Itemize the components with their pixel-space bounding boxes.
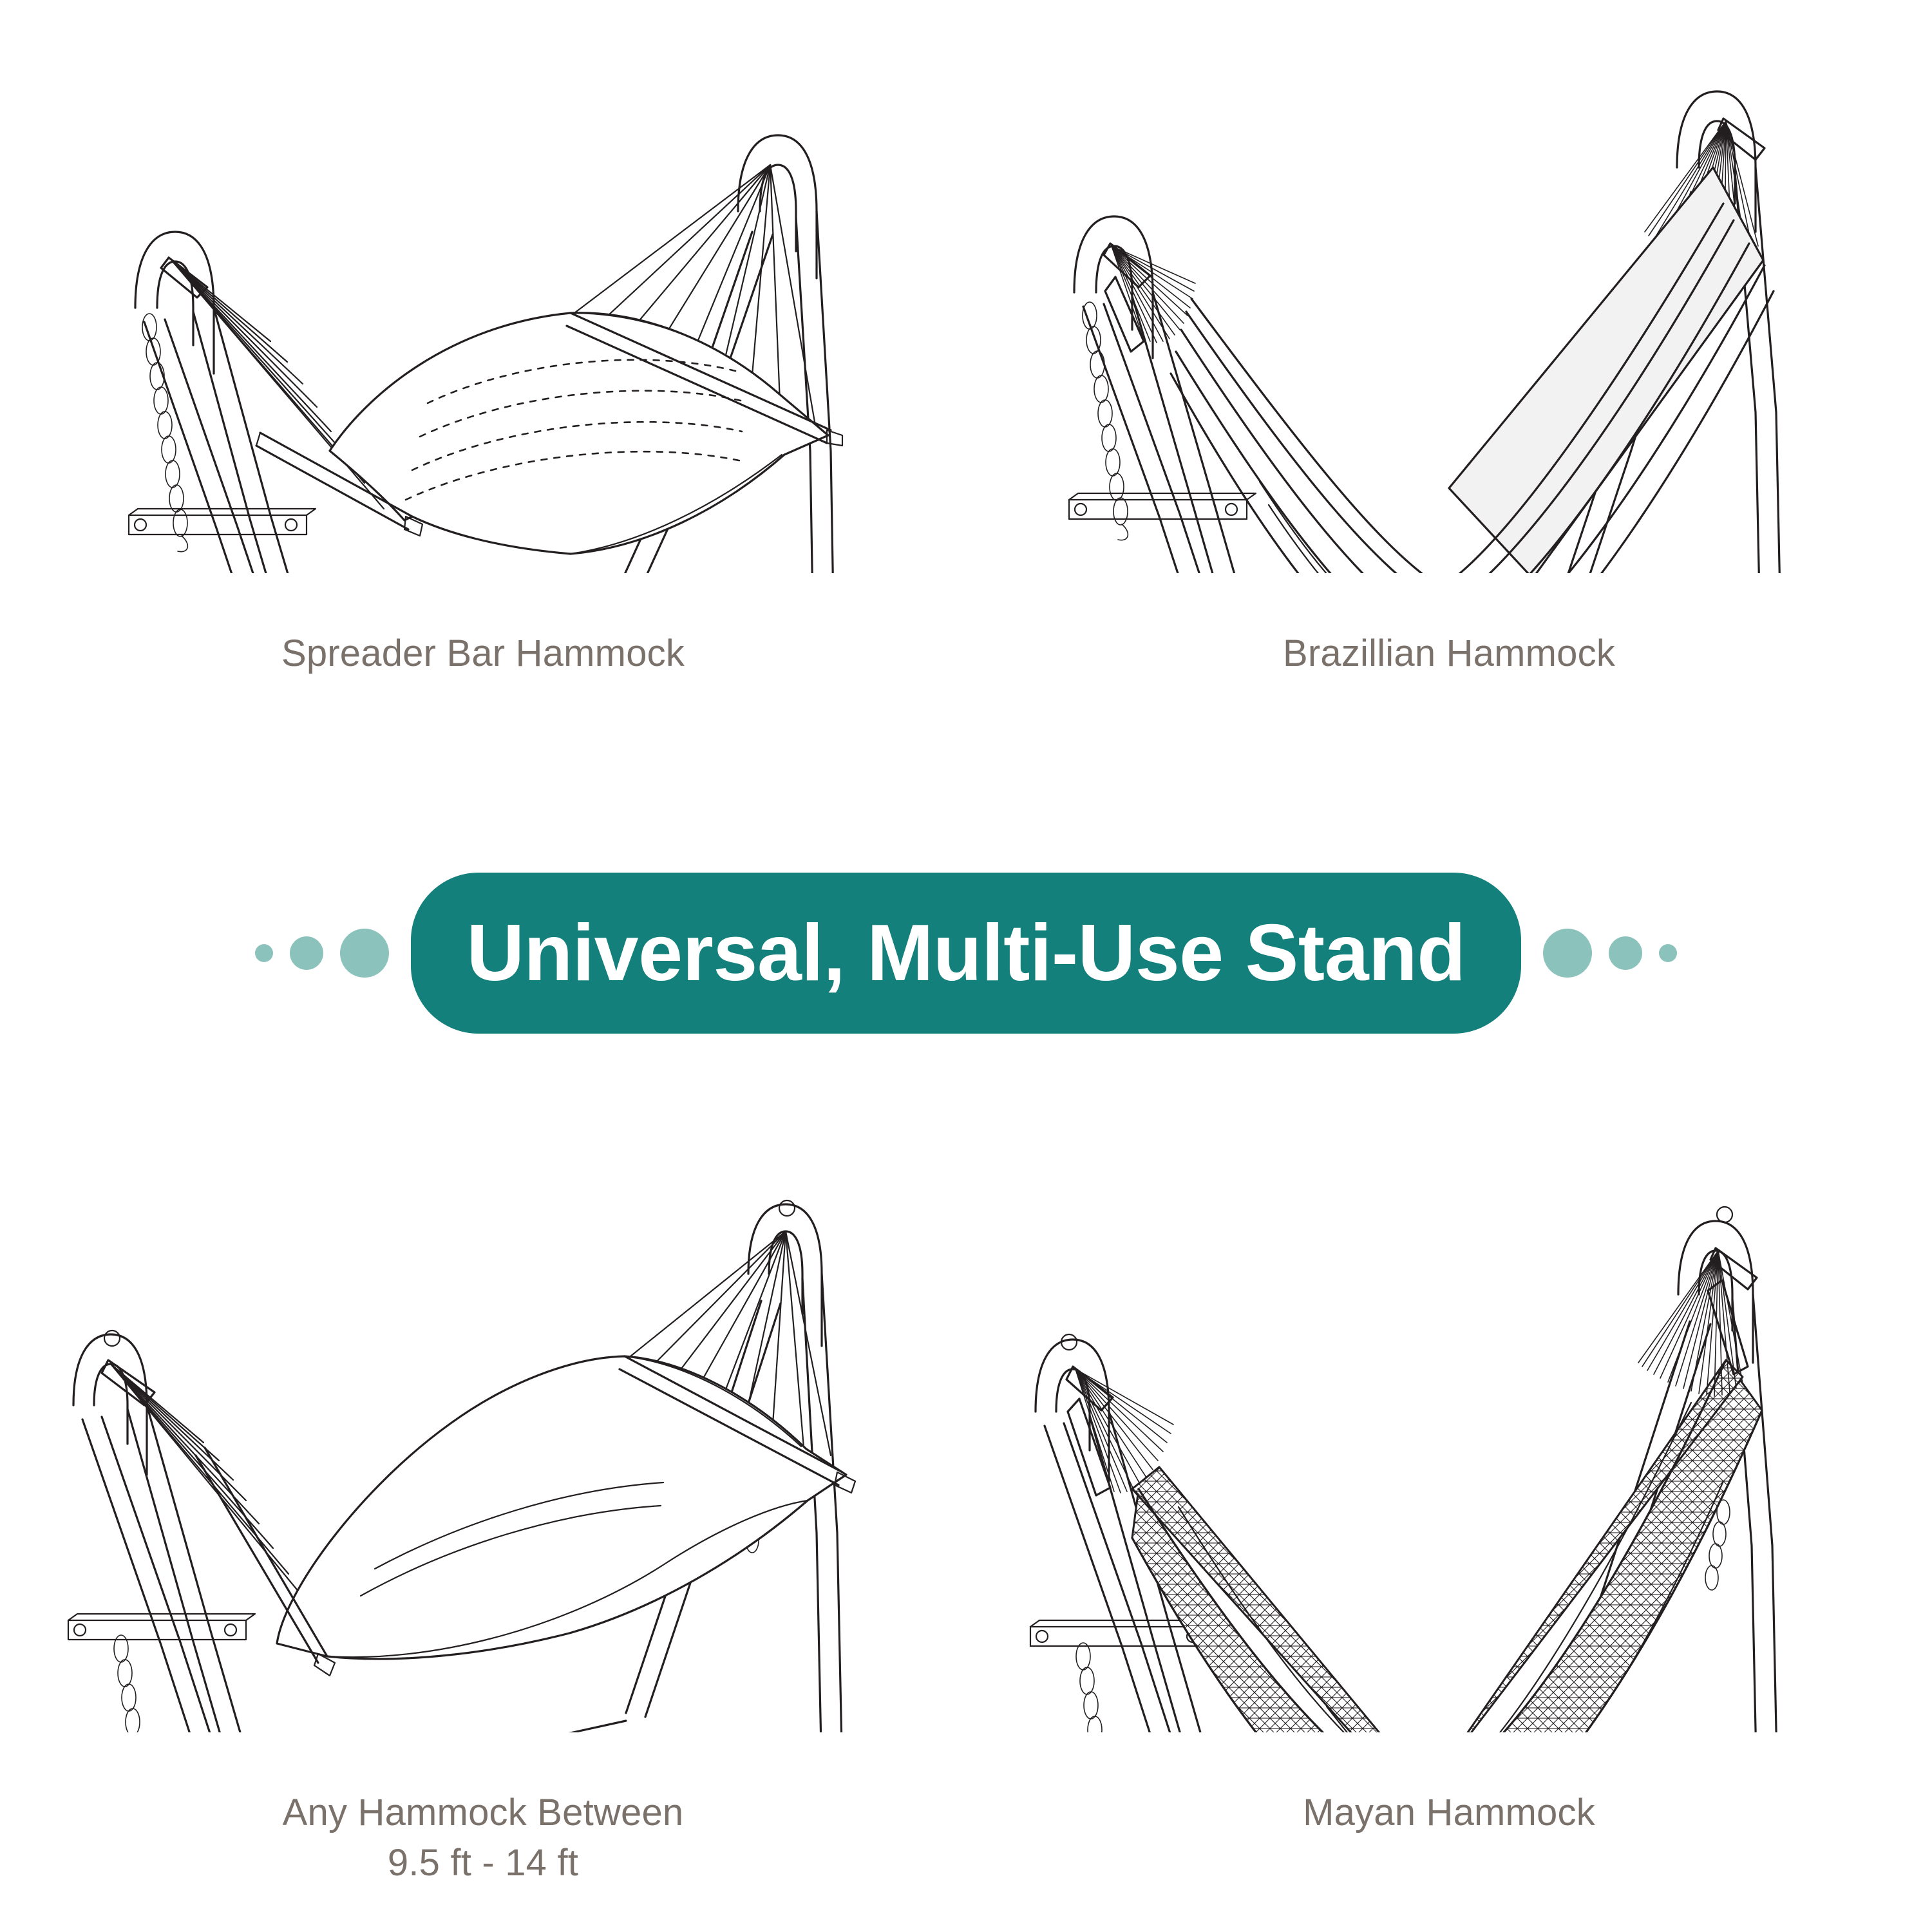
caption-line-1: Any Hammock Between bbox=[283, 1792, 684, 1833]
mayan-hammock-illustration bbox=[966, 1198, 1932, 1732]
dot-large-left bbox=[340, 929, 389, 978]
product-card-spreader-bar-hammock: Spreader Bar Hammock bbox=[0, 39, 966, 721]
dot-small-right bbox=[1659, 944, 1677, 962]
caption-line-2: 9.5 ft - 14 ft bbox=[0, 1838, 966, 1888]
decorative-dots-right bbox=[1543, 929, 1677, 978]
generic-hammock-illustration bbox=[0, 1198, 966, 1732]
product-card-brazillian-hammock: Brazillian Hammock bbox=[966, 39, 1932, 721]
caption-spreader-bar-hammock: Spreader Bar Hammock bbox=[0, 578, 966, 679]
universal-stand-pill: Universal, Multi-Use Stand bbox=[411, 873, 1520, 1034]
spreader-bar-hammock-illustration bbox=[0, 39, 966, 573]
decorative-dots-left bbox=[255, 929, 389, 978]
dot-small-left bbox=[255, 944, 273, 962]
caption-line-1: Mayan Hammock bbox=[1303, 1792, 1595, 1833]
caption-brazillian-hammock: Brazillian Hammock bbox=[966, 578, 1932, 679]
brazillian-hammock-illustration bbox=[966, 39, 1932, 573]
caption-line-1: Brazillian Hammock bbox=[1283, 632, 1615, 674]
product-card-mayan-hammock: Mayan Hammock bbox=[966, 1198, 1932, 1880]
universal-stand-banner-row: Universal, Multi-Use Stand bbox=[0, 857, 1932, 1050]
dot-medium-left bbox=[290, 936, 323, 970]
product-feature-graphic: Spreader Bar Hammock bbox=[0, 0, 1932, 1932]
caption-mayan-hammock: Mayan Hammock bbox=[966, 1738, 1932, 1838]
dot-large-right bbox=[1543, 929, 1592, 978]
caption-any-hammock-between: Any Hammock Between 9.5 ft - 14 ft bbox=[0, 1738, 966, 1932]
dot-medium-right bbox=[1609, 936, 1642, 970]
banner-headline: Universal, Multi-Use Stand bbox=[466, 913, 1465, 993]
caption-line-1: Spreader Bar Hammock bbox=[281, 632, 685, 674]
product-card-any-hammock-between: Any Hammock Between 9.5 ft - 14 ft bbox=[0, 1198, 966, 1880]
